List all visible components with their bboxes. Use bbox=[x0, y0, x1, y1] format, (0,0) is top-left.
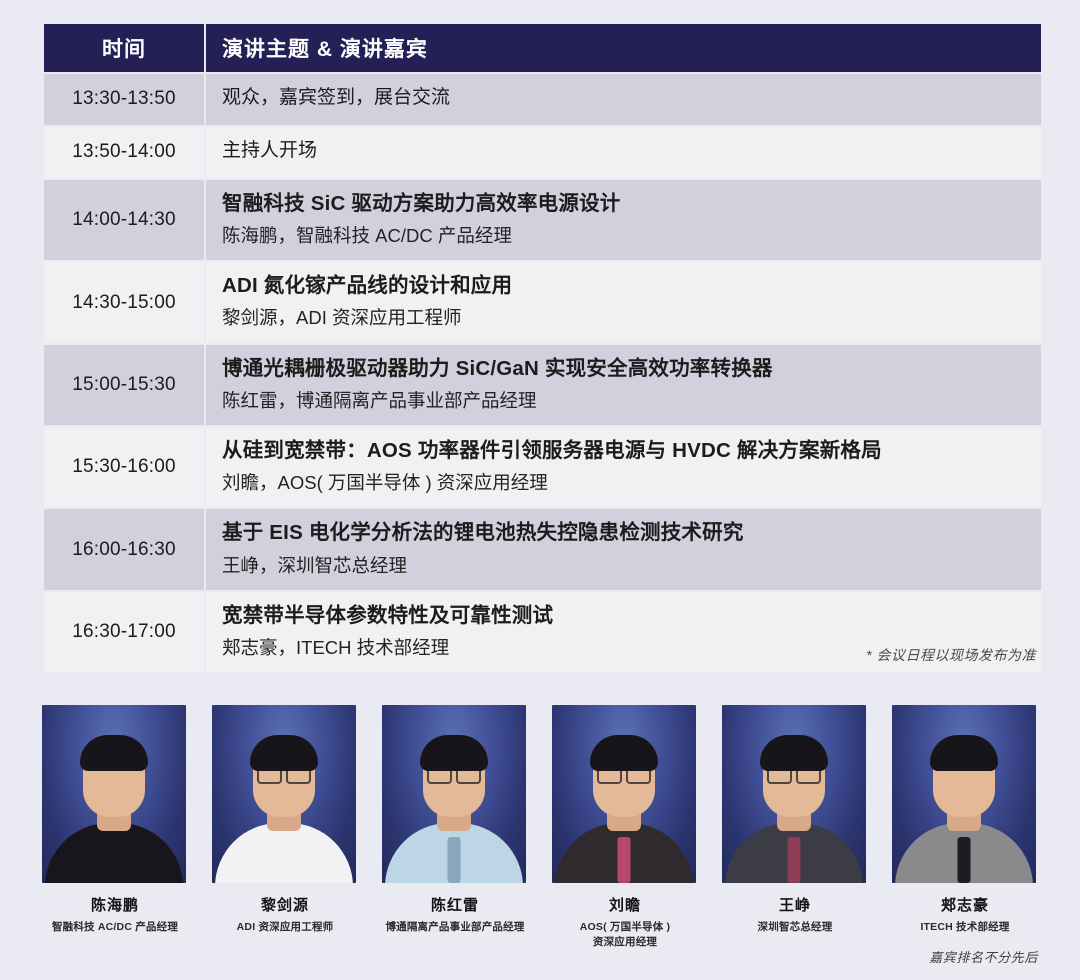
speaker-card: 黎剑源ADI 资深应用工程师 bbox=[212, 705, 358, 950]
portrait-shoulders bbox=[45, 823, 183, 883]
agenda-row-speaker: 黎剑源，ADI 资深应用工程师 bbox=[222, 305, 1025, 331]
agenda-table-body: 13:30-13:50观众，嘉宾签到，展台交流13:50-14:00主持人开场1… bbox=[44, 74, 1041, 672]
agenda-row: 13:50-14:00主持人开场 bbox=[44, 127, 1041, 178]
speaker-name: 陈海鹏 bbox=[42, 894, 188, 915]
portrait-hair bbox=[760, 735, 828, 771]
agenda-row-title: 从硅到宽禁带：AOS 功率器件引领服务器电源与 HVDC 解决方案新格局 bbox=[222, 436, 1025, 465]
speaker-card: 陈红雷博通隔离产品事业部产品经理 bbox=[382, 705, 528, 950]
agenda-table: 时间 演讲主题 & 演讲嘉宾 13:30-13:50观众，嘉宾签到，展台交流13… bbox=[42, 22, 1043, 674]
portrait-tie bbox=[618, 837, 631, 883]
agenda-row-title: 基于 EIS 电化学分析法的锂电池热失控隐患检测技术研究 bbox=[222, 518, 1025, 547]
agenda-row-topic: 主持人开场 bbox=[206, 127, 1041, 178]
agenda-row-time: 14:00-14:30 bbox=[44, 180, 204, 260]
speaker-card: 王峥深圳智芯总经理 bbox=[722, 705, 868, 950]
agenda-row: 15:00-15:30博通光耦栅极驱动器助力 SiC/GaN 实现安全高效功率转… bbox=[44, 345, 1041, 425]
agenda-row-title: 观众，嘉宾签到，展台交流 bbox=[222, 83, 1025, 114]
portrait-shoulders bbox=[215, 823, 353, 883]
agenda-row-speaker: 刘瞻，AOS( 万国半导体 ) 资深应用经理 bbox=[222, 470, 1025, 496]
agenda-row-time: 13:50-14:00 bbox=[44, 127, 204, 178]
portrait-hair bbox=[80, 735, 148, 771]
speaker-photo-lijianyuan bbox=[212, 705, 356, 883]
speaker-photo-chenhonglei bbox=[382, 705, 526, 883]
agenda-row-speaker: 陈海鹏，智融科技 AC/DC 产品经理 bbox=[222, 223, 1025, 249]
agenda-row-topic: 观众，嘉宾签到，展台交流 bbox=[206, 74, 1041, 125]
column-header-time: 时间 bbox=[44, 24, 204, 72]
speaker-title: ITECH 技术部经理 bbox=[892, 920, 1038, 935]
agenda-row-topic: 博通光耦栅极驱动器助力 SiC/GaN 实现安全高效功率转换器陈红雷，博通隔离产… bbox=[206, 345, 1041, 425]
speaker-card: 刘瞻AOS( 万国半导体 )资深应用经理 bbox=[552, 705, 698, 950]
agenda-row-time: 16:00-16:30 bbox=[44, 509, 204, 589]
agenda-disclaimer-note: * 会议日程以现场发布为准 bbox=[866, 645, 1036, 665]
agenda-row-topic: ADI 氮化镓产品线的设计和应用黎剑源，ADI 资深应用工程师 bbox=[206, 262, 1041, 342]
speaker-name: 黎剑源 bbox=[212, 894, 358, 915]
speaker-title: AOS( 万国半导体 )资深应用经理 bbox=[552, 920, 698, 950]
agenda-row: 16:00-16:30基于 EIS 电化学分析法的锂电池热失控隐患检测技术研究王… bbox=[44, 509, 1041, 589]
agenda-row-speaker: 陈红雷，博通隔离产品事业部产品经理 bbox=[222, 388, 1025, 414]
speaker-name: 陈红雷 bbox=[382, 894, 528, 915]
portrait-tie bbox=[958, 837, 971, 883]
speakers-gallery: 陈海鹏智融科技 AC/DC 产品经理黎剑源ADI 资深应用工程师陈红雷博通隔离产… bbox=[42, 705, 1038, 950]
speaker-photo-wangzheng bbox=[722, 705, 866, 883]
speaker-name: 刘瞻 bbox=[552, 894, 698, 915]
speaker-card: 陈海鹏智融科技 AC/DC 产品经理 bbox=[42, 705, 188, 950]
agenda-row-time: 14:30-15:00 bbox=[44, 262, 204, 342]
portrait-tie bbox=[788, 837, 801, 883]
agenda-row-time: 13:30-13:50 bbox=[44, 74, 204, 125]
speaker-photo-chenhaipeng bbox=[42, 705, 186, 883]
agenda-row-topic: 智融科技 SiC 驱动方案助力高效率电源设计陈海鹏，智融科技 AC/DC 产品经… bbox=[206, 180, 1041, 260]
portrait-hair bbox=[420, 735, 488, 771]
column-header-topic: 演讲主题 & 演讲嘉宾 bbox=[206, 24, 1041, 72]
agenda-page: 时间 演讲主题 & 演讲嘉宾 13:30-13:50观众，嘉宾签到，展台交流13… bbox=[0, 0, 1080, 980]
agenda-row: 14:00-14:30智融科技 SiC 驱动方案助力高效率电源设计陈海鹏，智融科… bbox=[44, 180, 1041, 260]
speaker-title: ADI 资深应用工程师 bbox=[212, 920, 358, 935]
agenda-row-time: 16:30-17:00 bbox=[44, 592, 204, 672]
agenda-row: 15:30-16:00从硅到宽禁带：AOS 功率器件引领服务器电源与 HVDC … bbox=[44, 427, 1041, 507]
agenda-row: 14:30-15:00ADI 氮化镓产品线的设计和应用黎剑源，ADI 资深应用工… bbox=[44, 262, 1041, 342]
portrait-hair bbox=[250, 735, 318, 771]
agenda-row-time: 15:30-16:00 bbox=[44, 427, 204, 507]
speaker-photo-haozhihao bbox=[892, 705, 1036, 883]
speaker-name: 郏志豪 bbox=[892, 894, 1038, 915]
speaker-order-note: 嘉宾排名不分先后 bbox=[929, 947, 1038, 966]
agenda-row-title: 主持人开场 bbox=[222, 136, 1025, 167]
agenda-row-title: 宽禁带半导体参数特性及可靠性测试 bbox=[222, 601, 1025, 630]
agenda-row-time: 15:00-15:30 bbox=[44, 345, 204, 425]
agenda-row-title: ADI 氮化镓产品线的设计和应用 bbox=[222, 271, 1025, 300]
portrait-tie bbox=[448, 837, 461, 883]
portrait-hair bbox=[590, 735, 658, 771]
speaker-title: 深圳智芯总经理 bbox=[722, 920, 868, 935]
agenda-row-speaker: 王峥，深圳智芯总经理 bbox=[222, 553, 1025, 579]
speaker-card: 郏志豪ITECH 技术部经理 bbox=[892, 705, 1038, 950]
speaker-photo-liuzhan bbox=[552, 705, 696, 883]
portrait-hair bbox=[930, 735, 998, 771]
speaker-name: 王峥 bbox=[722, 894, 868, 915]
speaker-title: 智融科技 AC/DC 产品经理 bbox=[42, 920, 188, 935]
agenda-row-topic: 从硅到宽禁带：AOS 功率器件引领服务器电源与 HVDC 解决方案新格局刘瞻，A… bbox=[206, 427, 1041, 507]
agenda-row: 13:30-13:50观众，嘉宾签到，展台交流 bbox=[44, 74, 1041, 125]
agenda-table-header-row: 时间 演讲主题 & 演讲嘉宾 bbox=[44, 24, 1041, 72]
agenda-row-title: 智融科技 SiC 驱动方案助力高效率电源设计 bbox=[222, 189, 1025, 218]
speaker-title: 博通隔离产品事业部产品经理 bbox=[382, 920, 528, 935]
agenda-row-topic: 基于 EIS 电化学分析法的锂电池热失控隐患检测技术研究王峥，深圳智芯总经理 bbox=[206, 509, 1041, 589]
agenda-row-title: 博通光耦栅极驱动器助力 SiC/GaN 实现安全高效功率转换器 bbox=[222, 354, 1025, 383]
